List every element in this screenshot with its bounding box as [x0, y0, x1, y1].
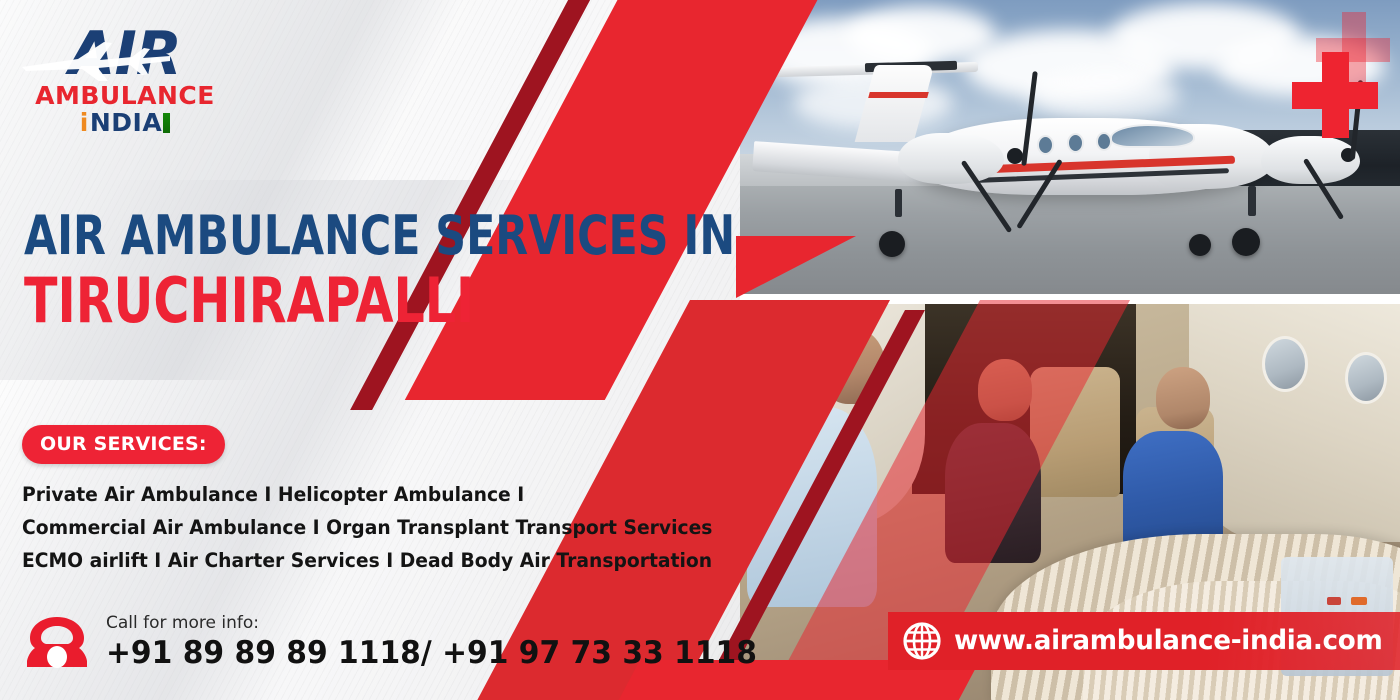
medical-cross-icon	[1292, 52, 1378, 138]
nose-gear-wheel	[1232, 228, 1260, 256]
logo-india-i: i	[80, 110, 89, 136]
services-badge: OUR SERVICES:	[22, 425, 225, 464]
landing-gear-strut	[895, 189, 902, 217]
services-line: Private Air Ambulance I Helicopter Ambul…	[22, 478, 780, 511]
website-bar[interactable]: www.airambulance-india.com	[888, 612, 1400, 670]
cabin-window	[760, 328, 812, 390]
left-engine-nacelle	[898, 133, 1004, 183]
logo-india-text: NDIA	[90, 110, 162, 136]
telephone-icon	[22, 613, 92, 671]
services-line: ECMO airlift I Air Charter Services I De…	[22, 544, 780, 577]
air-ambulance-banner: AIR AMBULANCE i NDIA AIR AMBULANCE SERVI…	[0, 0, 1400, 700]
cabin-window	[1067, 133, 1084, 153]
attendant-person	[945, 423, 1041, 563]
landing-gear-wheel	[879, 231, 905, 257]
call-label: Call for more info:	[106, 612, 784, 634]
monitor-indicator	[1327, 597, 1341, 605]
logo-air-text: AIR	[30, 25, 220, 83]
cloud	[1030, 71, 1180, 119]
logo-india-row: i NDIA	[30, 110, 220, 136]
landing-gear-wheel	[1189, 234, 1211, 256]
monitor-indicator	[1351, 597, 1367, 605]
aircraft-photo	[740, 0, 1400, 296]
relative-person	[1123, 431, 1223, 551]
cabin-window	[1037, 135, 1054, 155]
headline-line-1: AIR AMBULANCE SERVICES IN	[24, 206, 605, 266]
services-list: Private Air Ambulance I Helicopter Ambul…	[22, 478, 812, 577]
services-line: Commercial Air Ambulance I Organ Transpl…	[22, 511, 780, 544]
person-head	[1156, 367, 1210, 429]
page-title: AIR AMBULANCE SERVICES IN TIRUCHIRAPALLI	[24, 206, 684, 334]
globe-icon	[902, 621, 942, 661]
cabin-seat	[1030, 367, 1120, 497]
contact-text: Call for more info: +91 89 89 89 1118/ +…	[106, 612, 784, 672]
contact-block[interactable]: Call for more info: +91 89 89 89 1118/ +…	[22, 612, 784, 672]
cabin-window	[1345, 352, 1387, 404]
person-head	[819, 328, 885, 404]
flag-green-accent	[163, 113, 170, 133]
person-head	[978, 359, 1032, 421]
tail-stripe	[868, 92, 929, 98]
tarmac	[740, 186, 1400, 296]
company-logo[interactable]: AIR AMBULANCE i NDIA	[30, 25, 220, 133]
website-url[interactable]: www.airambulance-india.com	[954, 624, 1382, 658]
headline-line-2: TIRUCHIRAPALLI	[24, 268, 605, 334]
nose-gear-strut	[1248, 186, 1256, 216]
cockpit-windshield	[1110, 124, 1196, 148]
cabin-window	[1262, 336, 1308, 392]
phone-numbers[interactable]: +91 89 89 89 1118/ +91 97 73 33 1118	[106, 634, 757, 672]
